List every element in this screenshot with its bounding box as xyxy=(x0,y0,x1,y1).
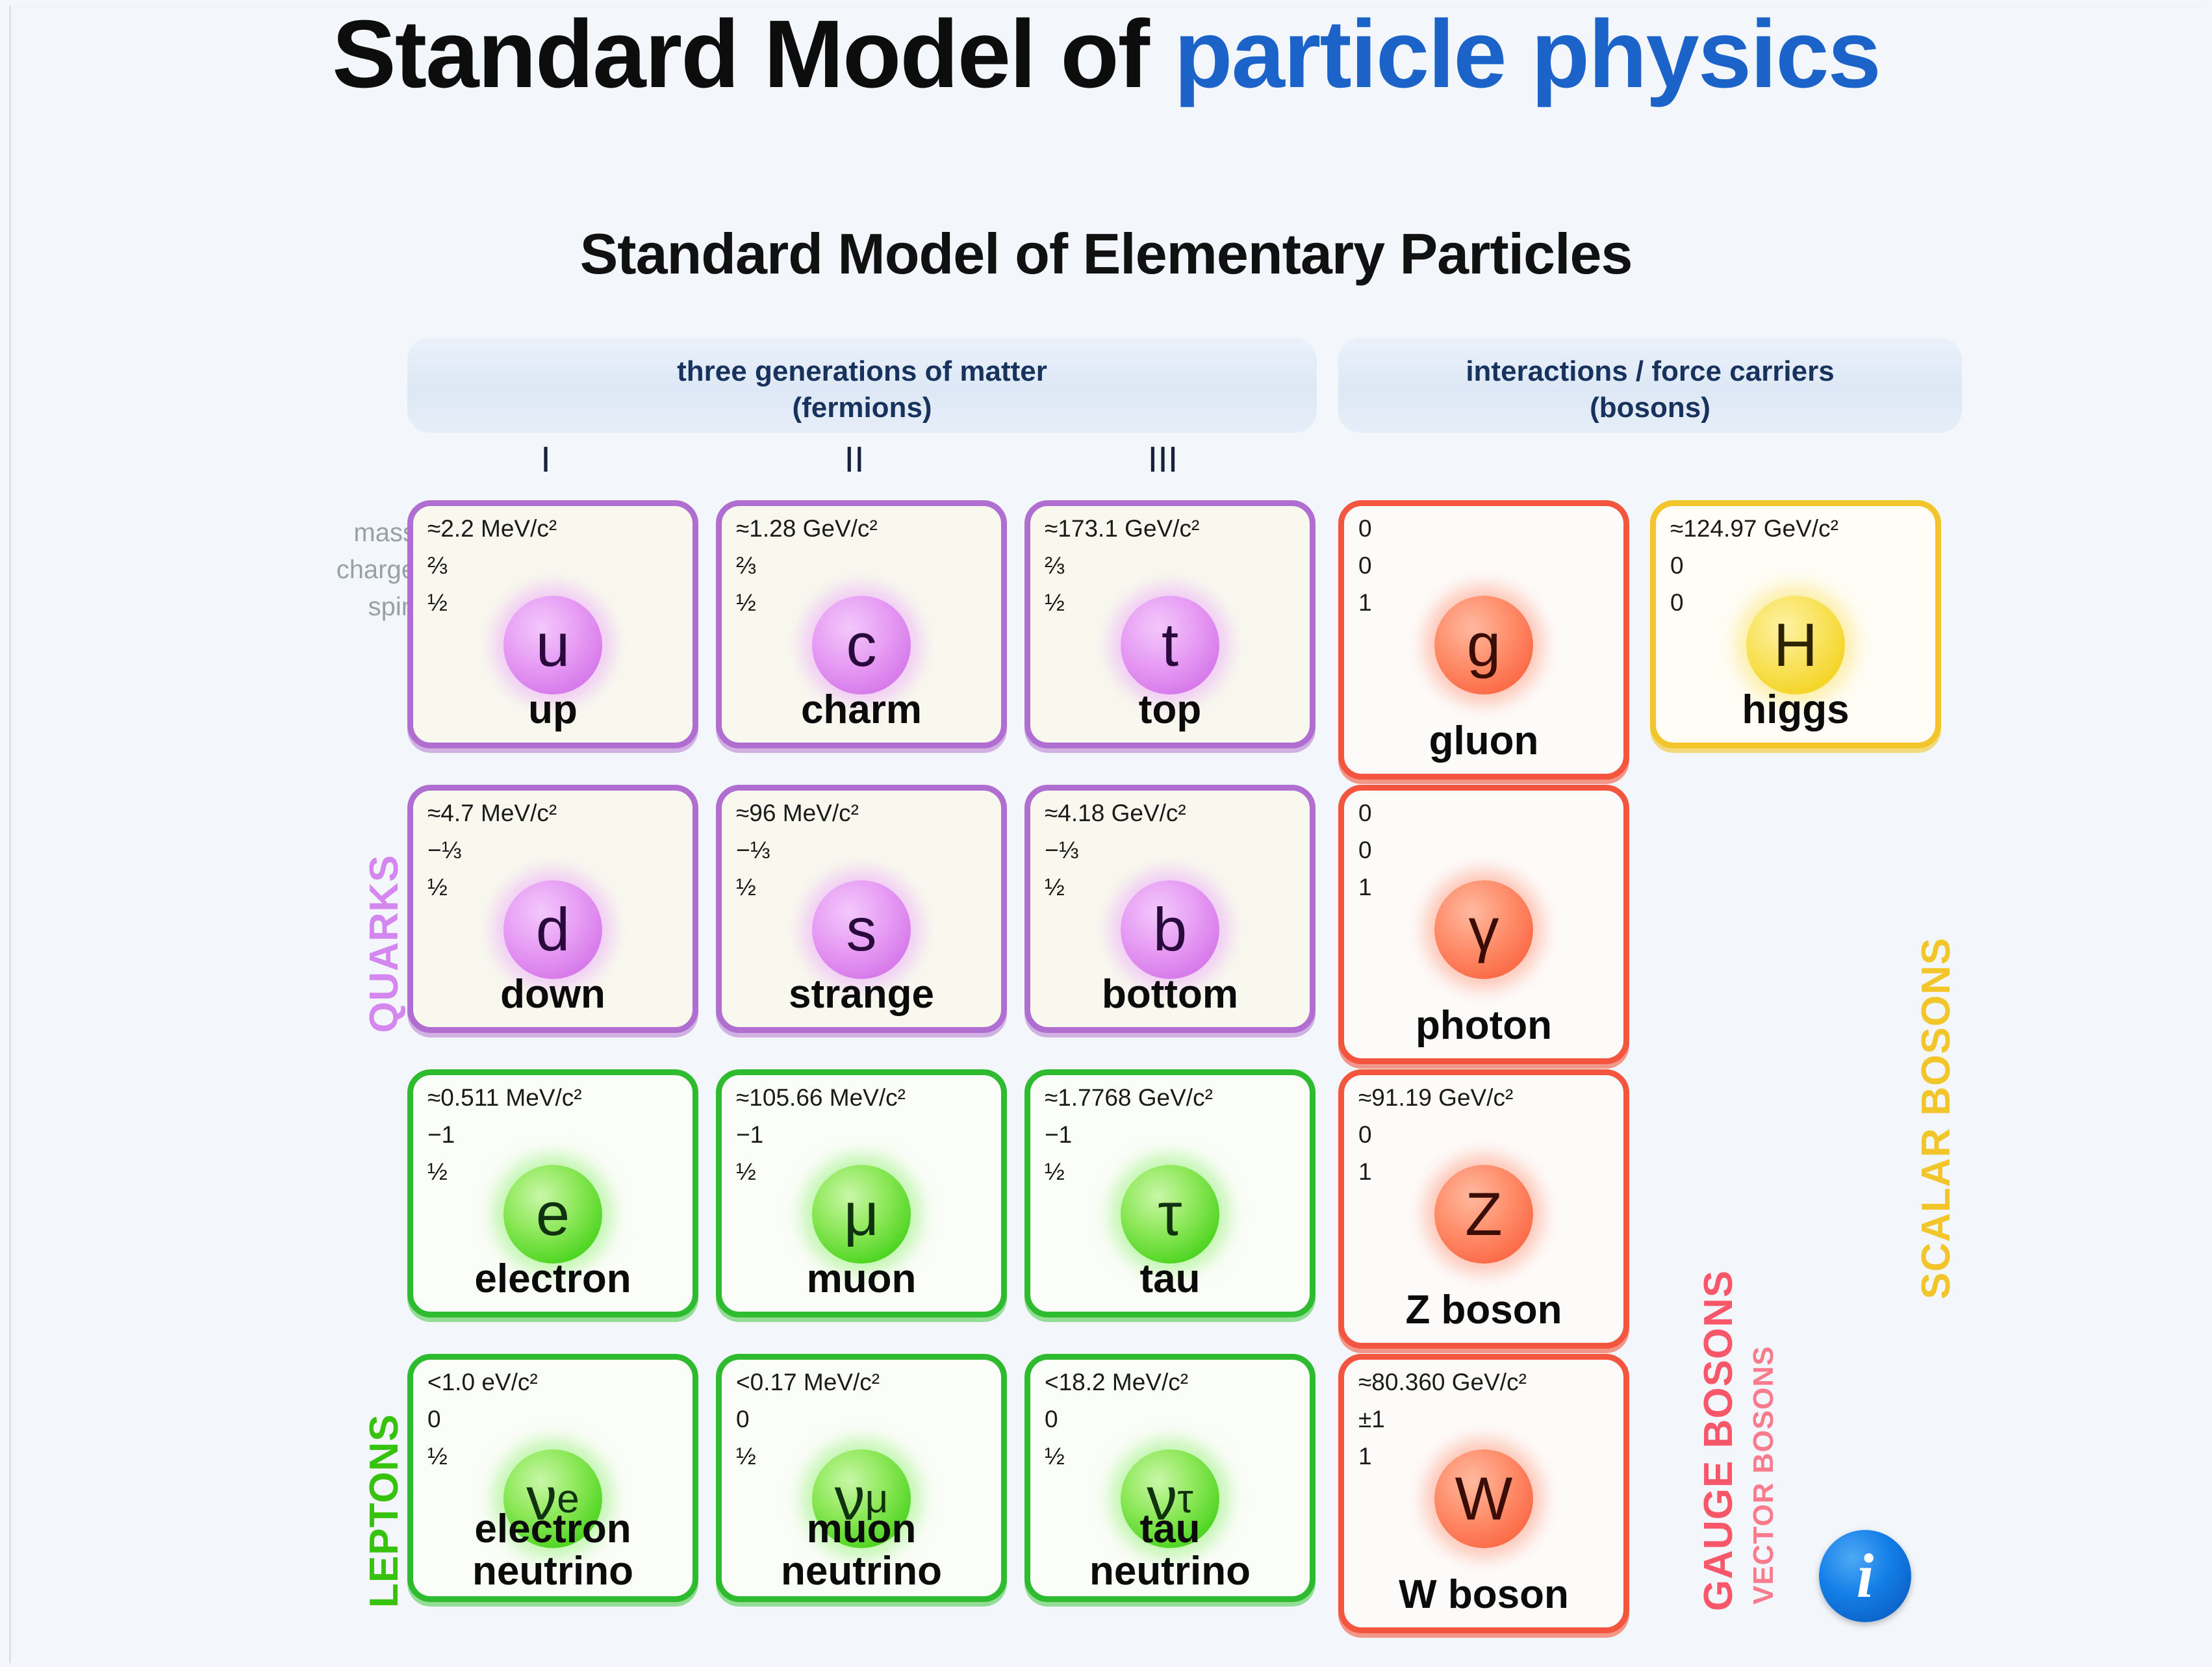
particle-symbol: b xyxy=(1153,895,1187,965)
particle-mass: ≈105.66 MeV/c² xyxy=(736,1086,906,1123)
particle-mass: ≈91.19 GeV/c² xyxy=(1358,1086,1513,1123)
particle-symbol-orb: γ xyxy=(1434,880,1533,979)
particle-symbol-orb: W xyxy=(1434,1449,1533,1548)
attribute-label-spin: spin xyxy=(260,594,416,631)
particle-mass: ≈80.360 GeV/c² xyxy=(1358,1370,1527,1407)
particle-charge: ⅔ xyxy=(427,554,557,591)
particle-name: strange xyxy=(722,974,1001,1015)
particle-name: bottom xyxy=(1030,974,1310,1015)
particle-spin: 1 xyxy=(1358,875,1372,912)
particle-stats: 001 xyxy=(1358,801,1372,912)
particle-cell-top[interactable]: ≈173.1 GeV/c²⅔½ttop xyxy=(1024,500,1316,748)
particle-cell-W-boson[interactable]: ≈80.360 GeV/c²±11WW boson xyxy=(1338,1354,1629,1633)
band-bosons-line1: interactions / force carriers xyxy=(1338,353,1962,390)
particle-name-line2: neutrino xyxy=(1030,1551,1310,1592)
band-fermions-line2: (fermions) xyxy=(407,390,1317,426)
particle-symbol: γ xyxy=(1469,895,1499,965)
particle-name: top xyxy=(1030,689,1310,731)
side-label-leptons: LEPTONS xyxy=(361,1414,407,1608)
particle-mass: 0 xyxy=(1358,801,1372,838)
particle-charge: 0 xyxy=(1358,1123,1513,1160)
particle-charge: 0 xyxy=(1358,838,1372,875)
particle-charge: ⅔ xyxy=(736,554,878,591)
particle-name: electron xyxy=(413,1258,693,1300)
page-title: Standard Model of particle physics xyxy=(0,6,2212,103)
particle-name-line1: electron xyxy=(413,1508,693,1550)
generation-numeral-2: II xyxy=(783,438,926,480)
particle-cell-electron[interactable]: ≈0.511 MeV/c²−1½eelectron xyxy=(407,1069,698,1317)
particle-mass: 0 xyxy=(1358,516,1372,554)
particle-name: Z boson xyxy=(1344,1290,1623,1331)
page-title-accent: particle physics xyxy=(1174,1,1880,108)
side-label-vector-bosons: VECTOR BOSONS xyxy=(1748,1346,1780,1605)
particle-charge: ⅔ xyxy=(1045,554,1199,591)
generation-numeral-1: I xyxy=(474,438,617,480)
particle-cell-tau[interactable]: ≈1.7768 GeV/c²−1½τtau xyxy=(1024,1069,1316,1317)
particle-cell-strange[interactable]: ≈96 MeV/c²−⅓½sstrange xyxy=(716,785,1007,1033)
particle-symbol: μ xyxy=(844,1179,879,1249)
particle-name: photon xyxy=(1344,1005,1623,1047)
particle-cell-down[interactable]: ≈4.7 MeV/c²−⅓½ddown xyxy=(407,785,698,1033)
particle-mass: ≈0.511 MeV/c² xyxy=(427,1086,582,1123)
particle-charge: 0 xyxy=(736,1407,880,1444)
particle-symbol-orb: d xyxy=(503,880,602,979)
attribute-label-mass: mass xyxy=(260,520,416,557)
particle-symbol: t xyxy=(1162,610,1178,680)
particle-cell-electron-neutrino[interactable]: <1.0 eV/c²0½νeelectronneutrino xyxy=(407,1354,698,1602)
particle-symbol-orb: c xyxy=(812,596,911,694)
particle-symbol-orb: b xyxy=(1121,880,1219,979)
particle-mass: ≈2.2 MeV/c² xyxy=(427,516,557,554)
particle-charge: −⅓ xyxy=(427,838,557,875)
particle-name: tau xyxy=(1030,1258,1310,1300)
particle-mass: <0.17 MeV/c² xyxy=(736,1370,880,1407)
particle-name: up xyxy=(413,689,693,731)
page-title-main: Standard Model of xyxy=(332,1,1149,108)
particle-name: gluon xyxy=(1344,720,1623,762)
particle-cell-bottom[interactable]: ≈4.18 GeV/c²−⅓½bbottom xyxy=(1024,785,1316,1033)
particle-cell-muon[interactable]: ≈105.66 MeV/c²−1½μmuon xyxy=(716,1069,1007,1317)
particle-charge: −1 xyxy=(427,1123,582,1160)
particle-symbol-orb: s xyxy=(812,880,911,979)
particle-symbol: e xyxy=(536,1179,570,1249)
particle-symbol-orb: g xyxy=(1434,596,1533,694)
particle-cell-up[interactable]: ≈2.2 MeV/c²⅔½uup xyxy=(407,500,698,748)
particle-name: muon xyxy=(722,1258,1001,1300)
particle-charge: 0 xyxy=(427,1407,538,1444)
particle-mass: ≈4.7 MeV/c² xyxy=(427,801,557,838)
band-bosons-line2: (bosons) xyxy=(1338,390,1962,426)
particle-name: W boson xyxy=(1344,1574,1623,1616)
particle-mass: ≈173.1 GeV/c² xyxy=(1045,516,1199,554)
particle-cell-gluon[interactable]: 001ggluon xyxy=(1338,500,1629,780)
particle-charge: 0 xyxy=(1045,1407,1188,1444)
particle-charge: 0 xyxy=(1358,554,1372,591)
particle-symbol: H xyxy=(1773,610,1818,680)
particle-symbol-orb: H xyxy=(1746,596,1845,694)
particle-symbol: g xyxy=(1467,610,1501,680)
side-label-gauge-bosons: GAUGE BOSONS xyxy=(1696,1270,1742,1611)
particle-name: down xyxy=(413,974,693,1015)
particle-name-line2: neutrino xyxy=(722,1551,1001,1592)
particle-symbol-orb: τ xyxy=(1121,1165,1219,1264)
particle-symbol: Z xyxy=(1465,1179,1502,1249)
particle-cell-tau-neutrino[interactable]: <18.2 MeV/c²0½ντtauneutrino xyxy=(1024,1354,1316,1602)
chart-title: Standard Model of Elementary Particles xyxy=(0,221,2212,287)
particle-name-line2: neutrino xyxy=(413,1551,693,1592)
particle-mass: <1.0 eV/c² xyxy=(427,1370,538,1407)
particle-cell-photon[interactable]: 001γphoton xyxy=(1338,785,1629,1064)
particle-cell-Z-boson[interactable]: ≈91.19 GeV/c²01ZZ boson xyxy=(1338,1069,1629,1349)
particle-name: muonneutrino xyxy=(722,1508,1001,1592)
particle-symbol: u xyxy=(536,610,570,680)
band-fermions-line1: three generations of matter xyxy=(407,353,1317,390)
particle-charge: −1 xyxy=(1045,1123,1213,1160)
particle-symbol-orb: e xyxy=(503,1165,602,1264)
particle-symbol: s xyxy=(846,895,877,965)
particle-symbol-orb: t xyxy=(1121,596,1219,694)
particle-mass: ≈1.28 GeV/c² xyxy=(736,516,878,554)
particle-symbol-orb: u xyxy=(503,596,602,694)
attribute-labels: mass charge spin xyxy=(260,520,416,631)
particle-stats: 001 xyxy=(1358,516,1372,628)
particle-charge: 0 xyxy=(1670,554,1838,591)
particle-cell-charm[interactable]: ≈1.28 GeV/c²⅔½ccharm xyxy=(716,500,1007,748)
particle-name: higgs xyxy=(1656,689,1935,731)
generation-numeral-3: III xyxy=(1091,438,1234,480)
attribute-label-charge: charge xyxy=(260,557,416,594)
particle-name-line1: tau xyxy=(1030,1508,1310,1550)
particle-spin: 1 xyxy=(1358,591,1372,628)
particle-mass: ≈4.18 GeV/c² xyxy=(1045,801,1186,838)
particle-name: electronneutrino xyxy=(413,1508,693,1592)
side-label-scalar-bosons: SCALAR BOSONS xyxy=(1913,937,1959,1299)
particle-symbol: W xyxy=(1455,1464,1513,1534)
particle-cell-muon-neutrino[interactable]: <0.17 MeV/c²0½νμmuonneutrino xyxy=(716,1354,1007,1602)
info-icon[interactable]: i xyxy=(1819,1530,1911,1622)
side-label-quarks: QUARKS xyxy=(361,854,407,1033)
band-bosons: interactions / force carriers (bosons) xyxy=(1338,338,1962,433)
particle-name: tauneutrino xyxy=(1030,1508,1310,1592)
particle-charge: ±1 xyxy=(1358,1407,1527,1444)
particle-mass: <18.2 MeV/c² xyxy=(1045,1370,1188,1407)
particle-cell-higgs[interactable]: ≈124.97 GeV/c²00Hhiggs xyxy=(1650,500,1941,748)
particle-name: charm xyxy=(722,689,1001,731)
particle-symbol: c xyxy=(846,610,877,680)
particle-symbol-orb: Z xyxy=(1434,1165,1533,1264)
particle-mass: ≈96 MeV/c² xyxy=(736,801,859,838)
particle-charge: −1 xyxy=(736,1123,906,1160)
particle-mass: ≈1.7768 GeV/c² xyxy=(1045,1086,1213,1123)
band-fermions: three generations of matter (fermions) xyxy=(407,338,1317,433)
particle-symbol-orb: μ xyxy=(812,1165,911,1264)
particle-charge: −⅓ xyxy=(1045,838,1186,875)
particle-charge: −⅓ xyxy=(736,838,859,875)
particle-name-line1: muon xyxy=(722,1508,1001,1550)
particle-symbol: d xyxy=(536,895,570,965)
particle-symbol: τ xyxy=(1158,1179,1182,1249)
particle-mass: ≈124.97 GeV/c² xyxy=(1670,516,1838,554)
